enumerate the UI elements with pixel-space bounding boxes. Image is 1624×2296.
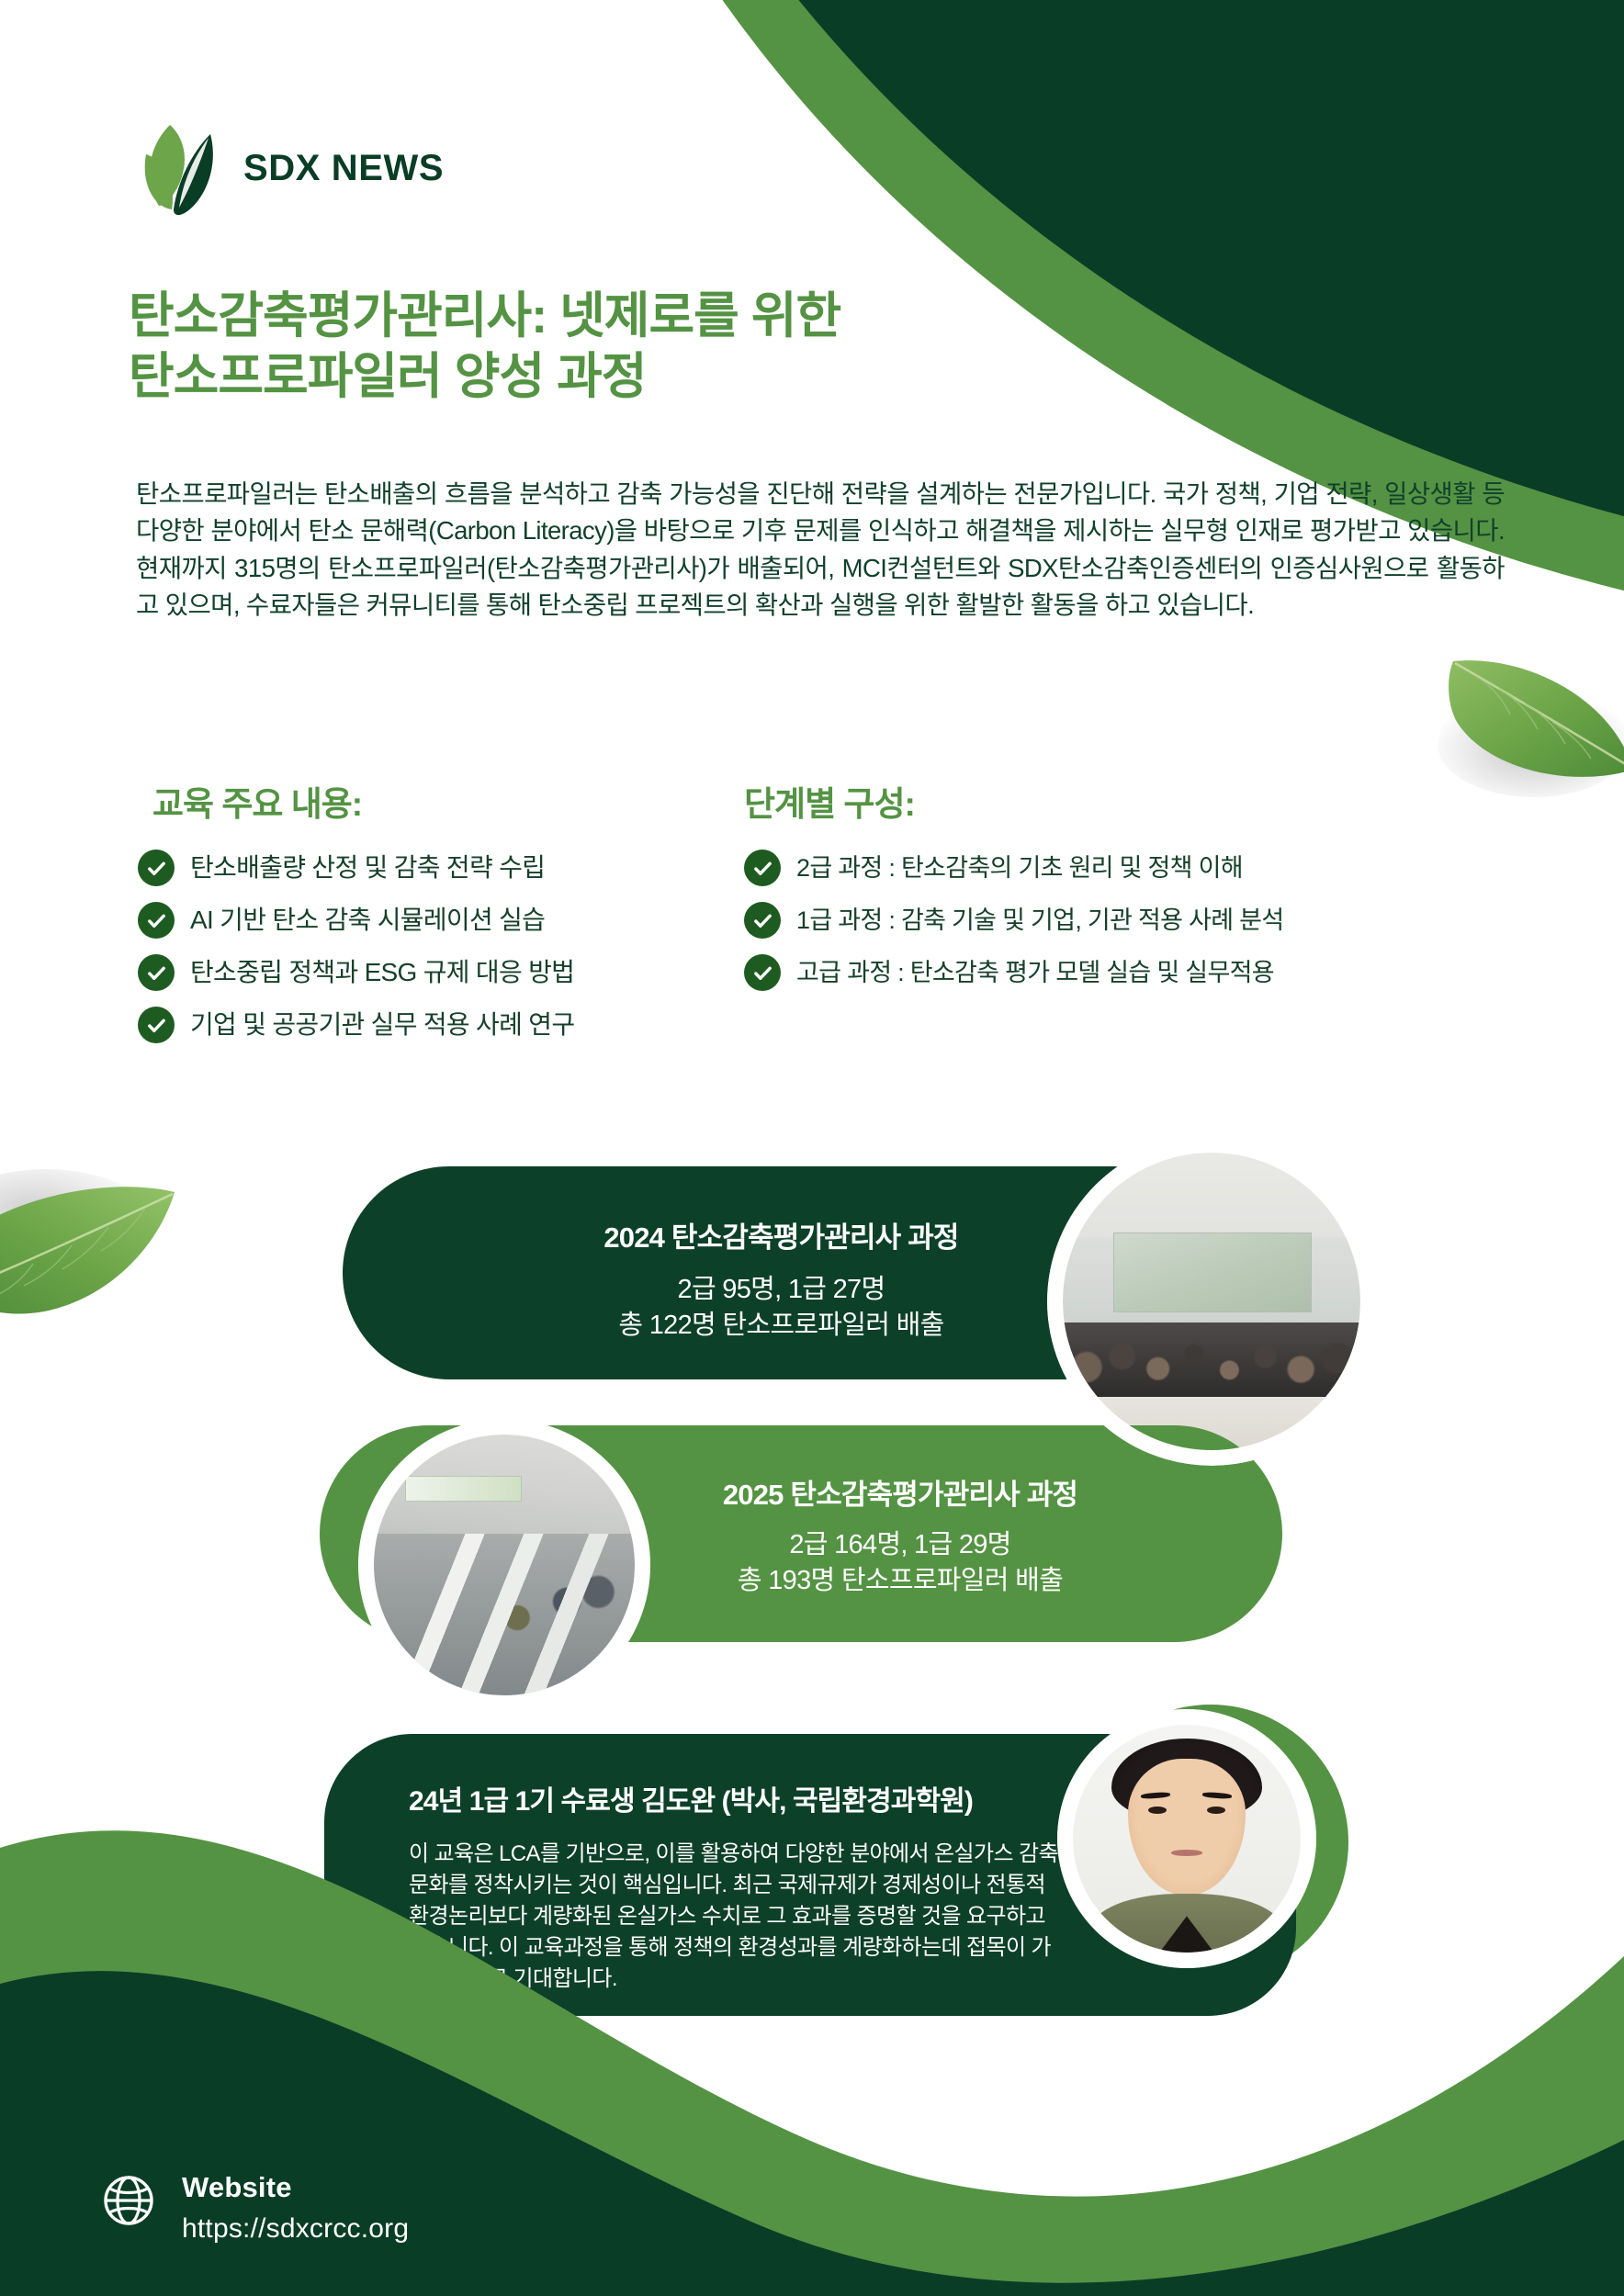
group-photo-2024	[1047, 1137, 1376, 1466]
levels-item-label: 1급 과정 : 감축 기술 및 기업, 기관 적용 사례 분석	[796, 906, 1283, 935]
footer-url[interactable]: https://sdxcrcc.org	[182, 2209, 409, 2249]
list-item: 2급 과정 : 탄소감축의 기초 원리 및 정책 이해	[744, 850, 1534, 886]
page-title: 탄소감축평가관리사: 넷제로를 위한 탄소프로파일러 양성 과정	[129, 287, 1212, 408]
list-item: 고급 과정 : 탄소감축 평가 모델 실습 및 실무적용	[744, 954, 1534, 991]
list-item: 탄소배출량 산정 및 감축 전략 수립	[138, 850, 744, 886]
list-item: 기업 및 공공기관 실무 적용 사례 연구	[138, 1007, 744, 1043]
leaf-pair-icon	[131, 118, 223, 219]
check-icon	[744, 902, 781, 939]
curriculum-item-label: AI 기반 탄소 감축 시뮬레이션 실습	[190, 905, 545, 936]
curriculum-item-label: 기업 및 공공기관 실무 적용 사례 연구	[190, 1009, 574, 1041]
levels-list: 2급 과정 : 탄소감축의 기초 원리 및 정책 이해 1급 과정 : 감축 기…	[744, 850, 1534, 991]
poster-root: SDX NEWS 탄소감축평가관리사: 넷제로를 위한 탄소프로파일러 양성 과…	[0, 0, 1624, 2296]
curriculum-column: 교육 주요 내용: 탄소배출량 산정 및 감축 전략 수립 AI 기반 탄소 감…	[138, 776, 744, 1059]
levels-item-label: 2급 과정 : 탄소감축의 기초 원리 및 정책 이해	[796, 853, 1243, 883]
check-icon	[744, 954, 781, 991]
photo-inner	[374, 1435, 635, 1695]
brand-logo: SDX NEWS	[131, 118, 444, 219]
classroom-photo-2025	[358, 1419, 650, 1711]
list-item: 탄소중립 정책과 ESG 규제 대응 방법	[138, 954, 744, 991]
headline-line-2: 탄소프로파일러 양성 과정	[129, 347, 1212, 408]
levels-heading: 단계별 구성:	[744, 776, 1534, 826]
photo-inner	[1073, 1725, 1301, 1953]
curriculum-list: 탄소배출량 산정 및 감축 전략 수립 AI 기반 탄소 감축 시뮬레이션 실습…	[138, 850, 744, 1043]
footer-text-block: Website https://sdxcrcc.org	[182, 2167, 409, 2248]
list-item: AI 기반 탄소 감축 시뮬레이션 실습	[138, 902, 744, 939]
photo-inner	[1063, 1153, 1360, 1450]
curriculum-heading: 교육 주요 내용:	[138, 776, 744, 826]
check-icon	[138, 850, 175, 886]
check-icon	[138, 954, 175, 991]
levels-column: 단계별 구성: 2급 과정 : 탄소감축의 기초 원리 및 정책 이해 1급 과…	[744, 776, 1534, 1059]
levels-item-label: 고급 과정 : 탄소감축 평가 모델 실습 및 실무적용	[796, 958, 1274, 987]
globe-icon	[101, 2173, 156, 2228]
portrait-kim-dowan	[1057, 1709, 1316, 1968]
check-icon	[744, 850, 781, 886]
footer-label: Website	[182, 2167, 409, 2209]
check-icon	[138, 1007, 175, 1043]
intro-paragraph: 탄소프로파일러는 탄소배출의 흐름을 분석하고 감축 가능성을 진단해 전략을 …	[136, 476, 1505, 625]
brand-name: SDX NEWS	[243, 150, 444, 186]
list-item: 1급 과정 : 감축 기술 및 기업, 기관 적용 사례 분석	[744, 902, 1534, 939]
curriculum-item-label: 탄소배출량 산정 및 감축 전략 수립	[190, 852, 545, 884]
curriculum-item-label: 탄소중립 정책과 ESG 규제 대응 방법	[190, 957, 574, 988]
footer-contact: Website https://sdxcrcc.org	[101, 2167, 409, 2248]
check-icon	[138, 902, 175, 939]
headline-line-1: 탄소감축평가관리사: 넷제로를 위한	[129, 287, 1212, 347]
leaf-decoration-left	[0, 1139, 202, 1341]
feature-columns: 교육 주요 내용: 탄소배출량 산정 및 감축 전략 수립 AI 기반 탄소 감…	[138, 776, 1534, 1059]
